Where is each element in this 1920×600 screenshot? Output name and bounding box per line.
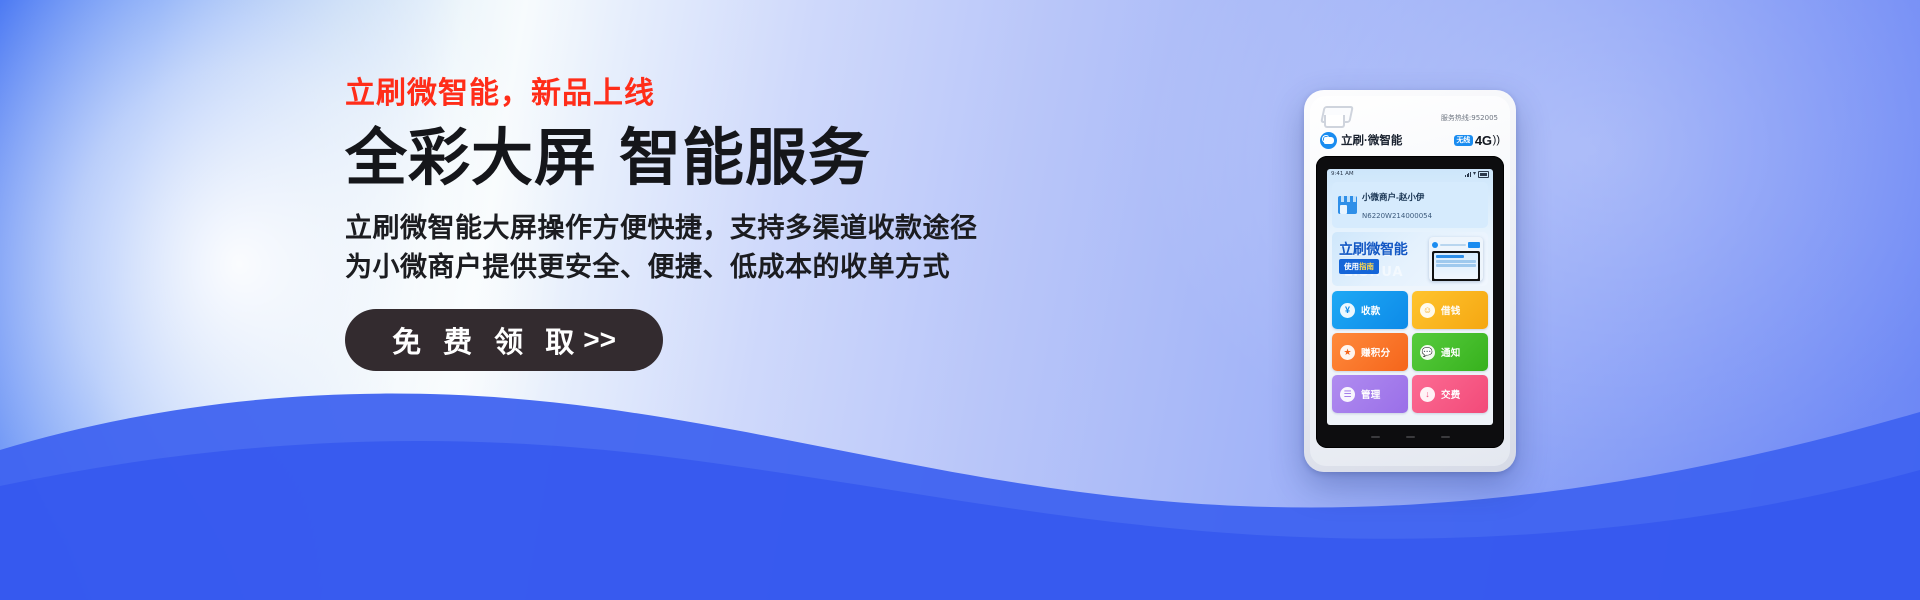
- signal-wave-icon: )): [1493, 134, 1500, 146]
- app-tile-label: 收款: [1361, 303, 1381, 317]
- merchant-id: N6220W214000054: [1362, 212, 1432, 220]
- app-tile-zhuanjifen[interactable]: ★ 赚积分: [1332, 333, 1408, 371]
- battery-icon: [1478, 171, 1489, 178]
- promo-tag-prefix: 使用: [1344, 262, 1359, 271]
- app-tile-label: 交费: [1441, 387, 1461, 401]
- star-icon: ★: [1340, 345, 1355, 360]
- shop-door-shape: [1340, 205, 1347, 214]
- pos-terminal: 服务热线:952005 立刷·微智能 无线 4G )) 9:41 AM ▾: [1304, 90, 1516, 472]
- promo-tag-accent: 指南: [1359, 262, 1374, 271]
- promo-device-thumbnail: [1429, 237, 1483, 281]
- nav-home-key[interactable]: [1406, 436, 1415, 438]
- kicker-text: 立刷微智能，新品上线: [345, 76, 985, 112]
- promo-device-header: [1432, 240, 1480, 249]
- device-nav-bar[interactable]: [1316, 431, 1504, 443]
- description-block: 立刷微智能大屏操作方便快捷，支持多渠道收款途径 为小微商户提供更安全、便捷、低成…: [345, 209, 985, 287]
- yen-icon: ¥: [1340, 303, 1355, 318]
- promo-device-screen: [1432, 251, 1480, 281]
- status-bar: 9:41 AM ▾: [1327, 169, 1493, 179]
- app-tile-label: 借钱: [1441, 303, 1461, 317]
- storefront-icon: [1338, 196, 1357, 214]
- printer-slot-icon: [1322, 106, 1350, 128]
- promo-guide-tag: 使用指南: [1339, 259, 1379, 274]
- status-time: 9:41 AM: [1331, 171, 1354, 177]
- promo-device-screen-inner: [1434, 253, 1478, 279]
- download-arrow-icon: ↓: [1420, 387, 1435, 402]
- device-screen[interactable]: 9:41 AM ▾: [1327, 169, 1493, 425]
- device-body: 服务热线:952005 立刷·微智能 无线 4G )) 9:41 AM ▾: [1310, 96, 1510, 466]
- screen-bezel: 9:41 AM ▾: [1316, 156, 1504, 448]
- device-brand-label: 立刷·微智能: [1341, 132, 1402, 148]
- page-title: 全彩大屏智能服务: [345, 126, 985, 193]
- chat-bubble-icon: 💬: [1420, 345, 1435, 360]
- headline-part-1: 全彩大屏: [345, 124, 597, 193]
- app-tile-jieqian[interactable]: ☺ 借钱: [1412, 291, 1488, 329]
- promo-device-logo-dot: [1432, 242, 1438, 248]
- hotline-text: 服务热线:952005: [1441, 113, 1498, 123]
- promo-title: 立刷微智能: [1339, 239, 1408, 259]
- app-tile-label: 管理: [1361, 387, 1381, 401]
- wifi-icon: ▾: [1473, 171, 1476, 177]
- double-chevron-right-icon: >>: [583, 324, 616, 356]
- promo-device-brand-line: [1440, 244, 1466, 246]
- free-claim-button[interactable]: 免 费 领 取 >>: [345, 309, 663, 371]
- smile-face-icon: ☺: [1420, 303, 1435, 318]
- status-indicators: ▾: [1465, 171, 1489, 178]
- app-tile-jiaofei[interactable]: ↓ 交费: [1412, 375, 1488, 413]
- app-tile-shoukuan[interactable]: ¥ 收款: [1332, 291, 1408, 329]
- network-indicator: 无线 4G )): [1454, 133, 1500, 148]
- promo-banner[interactable]: 立刷微智能 LISHUA 使用指南: [1332, 232, 1488, 286]
- app-tile-grid: ¥ 收款 ☺ 借钱 ★ 赚积分 💬 通知: [1332, 291, 1488, 413]
- signal-bars-icon: [1465, 172, 1471, 177]
- app-tile-label: 通知: [1441, 345, 1461, 359]
- wireless-badge: 无线: [1454, 135, 1473, 146]
- banner-stage: 立刷微智能，新品上线 全彩大屏智能服务 立刷微智能大屏操作方便快捷，支持多渠道收…: [0, 0, 1920, 600]
- copy-block: 立刷微智能，新品上线 全彩大屏智能服务 立刷微智能大屏操作方便快捷，支持多渠道收…: [345, 76, 985, 371]
- list-icon: ☰: [1340, 387, 1355, 402]
- app-tile-label: 赚积分: [1361, 345, 1390, 359]
- merchant-name: 小微商户-赵小伊: [1362, 192, 1424, 202]
- nav-recents-key[interactable]: [1441, 436, 1450, 438]
- printer-tray-shape: [1324, 115, 1345, 128]
- network-type-label: 4G: [1475, 133, 1492, 148]
- merchant-card[interactable]: 小微商户-赵小伊 N6220W214000054: [1332, 182, 1488, 228]
- headline-part-2: 智能服务: [619, 124, 871, 193]
- description-line-2: 为小微商户提供更安全、便捷、低成本的收单方式: [345, 248, 985, 287]
- device-brand-row: 立刷·微智能 无线 4G )): [1320, 128, 1500, 152]
- cta-label: 免 费 领 取: [392, 319, 581, 361]
- promo-device-badge: [1468, 242, 1480, 248]
- merchant-info: 小微商户-赵小伊 N6220W214000054: [1362, 187, 1482, 223]
- description-line-1: 立刷微智能大屏操作方便快捷，支持多渠道收款途径: [345, 209, 985, 248]
- lishua-logo-icon: [1320, 132, 1337, 149]
- app-tile-tongzhi[interactable]: 💬 通知: [1412, 333, 1488, 371]
- nav-back-key[interactable]: [1371, 436, 1380, 438]
- app-tile-guanli[interactable]: ☰ 管理: [1332, 375, 1408, 413]
